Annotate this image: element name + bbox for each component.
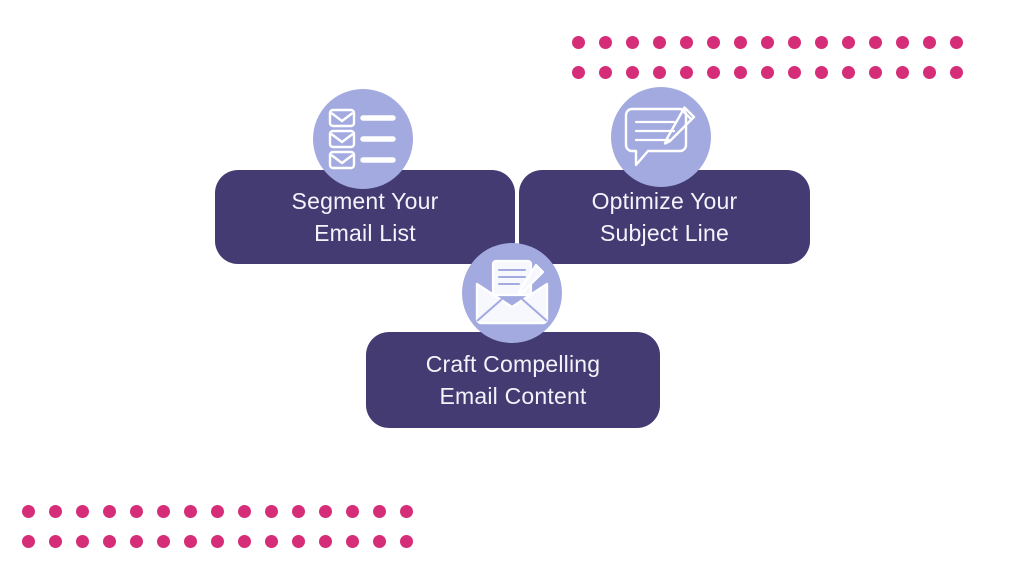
decorative-dot bbox=[373, 505, 386, 518]
decorative-dot bbox=[923, 66, 936, 79]
decorative-dot bbox=[734, 66, 747, 79]
decorative-dot bbox=[896, 66, 909, 79]
decorative-dot bbox=[346, 505, 359, 518]
decorative-dot bbox=[238, 535, 251, 548]
decorative-dot bbox=[292, 505, 305, 518]
decorative-dot bbox=[157, 535, 170, 548]
infographic-canvas: Segment Your Email List Optimize Your Su… bbox=[0, 0, 1024, 585]
decorative-dot bbox=[184, 505, 197, 518]
decorative-dot bbox=[572, 36, 585, 49]
decorative-dot bbox=[211, 505, 224, 518]
decorative-dot bbox=[950, 66, 963, 79]
decorative-dot bbox=[211, 535, 224, 548]
decorative-dot bbox=[319, 535, 332, 548]
step-card-segment-label: Segment Your Email List bbox=[278, 185, 453, 249]
decorative-dot bbox=[626, 36, 639, 49]
step-card-craft-label: Craft Compelling Email Content bbox=[412, 348, 615, 412]
decorative-dot bbox=[400, 505, 413, 518]
decorative-dot bbox=[653, 66, 666, 79]
decorative-dot bbox=[103, 505, 116, 518]
decorative-dot bbox=[869, 36, 882, 49]
decorative-dot bbox=[319, 505, 332, 518]
decorative-dot bbox=[680, 36, 693, 49]
decorative-dot bbox=[815, 66, 828, 79]
decorative-dot bbox=[842, 36, 855, 49]
decorative-dot bbox=[130, 505, 143, 518]
decorative-dot bbox=[373, 535, 386, 548]
decorative-dot bbox=[103, 535, 116, 548]
decorative-dot bbox=[49, 535, 62, 548]
decorative-dot bbox=[76, 505, 89, 518]
decorative-dot bbox=[734, 36, 747, 49]
decorative-dot bbox=[22, 505, 35, 518]
step-card-optimize-label: Optimize Your Subject Line bbox=[578, 185, 752, 249]
decorative-dot bbox=[265, 535, 278, 548]
decorative-dot bbox=[788, 66, 801, 79]
decorative-dot bbox=[49, 505, 62, 518]
decorative-dot bbox=[599, 36, 612, 49]
step-card-craft[interactable]: Craft Compelling Email Content bbox=[366, 332, 660, 428]
decorative-dot bbox=[238, 505, 251, 518]
step-icon-circle-segment bbox=[313, 89, 413, 189]
decorative-dot bbox=[788, 36, 801, 49]
decorative-dot bbox=[572, 66, 585, 79]
decorative-dot bbox=[869, 66, 882, 79]
decorative-dot bbox=[923, 36, 936, 49]
decorative-dot bbox=[184, 535, 197, 548]
decorative-dot bbox=[707, 36, 720, 49]
decorative-dot bbox=[599, 66, 612, 79]
email-list-icon bbox=[328, 108, 398, 170]
decorative-dot bbox=[346, 535, 359, 548]
decorative-dot bbox=[950, 36, 963, 49]
decorative-dot bbox=[896, 36, 909, 49]
step-icon-circle-craft bbox=[462, 243, 562, 343]
speech-bubble-pencil-icon bbox=[624, 105, 698, 169]
decorative-dot bbox=[626, 66, 639, 79]
decorative-dot bbox=[680, 66, 693, 79]
decorative-dot bbox=[22, 535, 35, 548]
decorative-dot bbox=[265, 505, 278, 518]
decorative-dot bbox=[761, 36, 774, 49]
decorative-dot bbox=[707, 66, 720, 79]
decorative-dot bbox=[76, 535, 89, 548]
decorative-dot bbox=[130, 535, 143, 548]
decorative-dot bbox=[761, 66, 774, 79]
decorative-dot bbox=[653, 36, 666, 49]
decorative-dot-grid-bottom-left bbox=[22, 505, 427, 565]
step-icon-circle-optimize bbox=[611, 87, 711, 187]
decorative-dot bbox=[157, 505, 170, 518]
decorative-dot bbox=[842, 66, 855, 79]
decorative-dot-grid-top-right bbox=[572, 36, 977, 96]
decorative-dot bbox=[292, 535, 305, 548]
open-envelope-letter-pencil-icon bbox=[474, 259, 550, 327]
decorative-dot bbox=[815, 36, 828, 49]
decorative-dot bbox=[400, 535, 413, 548]
